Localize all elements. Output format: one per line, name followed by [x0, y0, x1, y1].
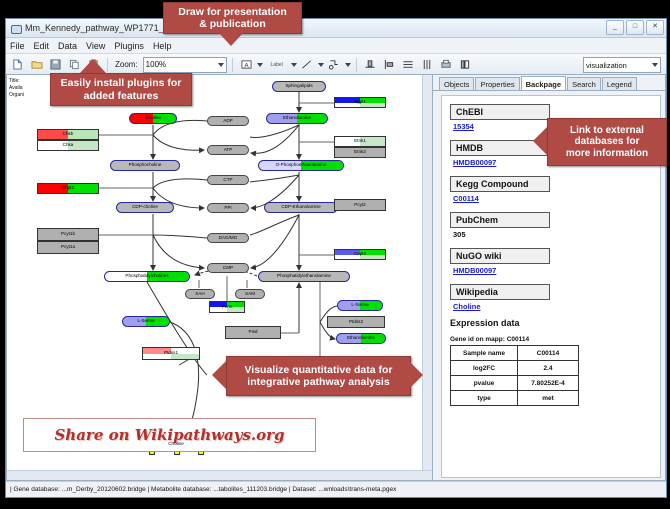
menu-bar: File Edit Data View Plugins Help [6, 38, 666, 54]
node-label: Choline [168, 442, 184, 447]
title-bar: Mm_Kennedy_pathway_WP1771_45176.gpml _ □… [6, 19, 666, 38]
kegg-link[interactable]: C00114 [453, 194, 654, 203]
app-icon [10, 23, 21, 34]
node-ethanolamine[interactable]: Ethanolamine [266, 113, 328, 124]
row-value: C00114 [518, 346, 579, 361]
screenshot-root: Mm_Kennedy_pathway_WP1771_45176.gpml _ □… [0, 0, 670, 509]
draw-callout-text: Draw for presentation & publication [178, 6, 287, 30]
pubchem-value: 305 [453, 230, 654, 239]
visualization-value: visualization [586, 61, 627, 70]
gene-ptdss2[interactable]: Ptdss2 [327, 316, 385, 328]
node-ppi[interactable]: PPi [207, 203, 249, 213]
node-label: Ethanolamine [283, 116, 311, 121]
tab-properties[interactable]: Properties [475, 77, 519, 90]
gene-pisd[interactable]: Pisd [225, 326, 281, 339]
node-l-serine-right[interactable]: L-Serine [337, 300, 383, 311]
node-phosphocholine[interactable]: Phosphocholine [110, 160, 180, 171]
gene-pemt[interactable]: Pemt [209, 301, 245, 313]
pubchem-header: PubChem [450, 212, 550, 228]
row-key: type [451, 391, 518, 406]
toolbar-separator [232, 58, 233, 72]
stack-icon[interactable] [457, 56, 474, 73]
menu-item-help[interactable]: Help [153, 41, 172, 51]
chevron-down-icon[interactable] [257, 63, 263, 67]
kegg-header: Kegg Compound [450, 176, 550, 192]
expression-table: Sample name C00114 log2FC 2.4 pvalue 7.8… [450, 345, 579, 406]
menu-item-edit[interactable]: Edit [34, 41, 50, 51]
link-callout-arrow-icon [533, 127, 547, 155]
node-label: DAG/MG [219, 236, 238, 241]
distribute-horizontal-icon[interactable] [419, 56, 436, 73]
gene-label: Ptdss2 [349, 320, 363, 325]
chevron-down-icon [652, 63, 658, 67]
tab-backpage[interactable]: Backpage [521, 76, 566, 90]
gene-pcyt2[interactable]: Pcyt2 [334, 199, 386, 211]
row-key: pvalue [451, 376, 518, 391]
gene-label: Chkb [63, 132, 74, 137]
canvas-scrollbar-vertical[interactable] [422, 75, 432, 471]
open-folder-icon[interactable] [28, 56, 45, 73]
tab-search[interactable]: Search [567, 77, 601, 90]
node-phosphatidylethanolamine[interactable]: Phosphatidylethanolamine [258, 271, 350, 282]
gene-chkb[interactable]: Chkb [37, 129, 99, 140]
visualize-callout-arrow-right-icon [409, 361, 423, 389]
plugins-callout-arrow-icon [80, 59, 106, 73]
zoom-value: 100% [146, 60, 166, 69]
maximize-button[interactable]: □ [626, 20, 644, 35]
visualize-callout: Visualize quantitative data for integrat… [226, 356, 411, 396]
menu-item-file[interactable]: File [10, 41, 25, 51]
chevron-down-icon [218, 63, 224, 67]
node-label: O-Phosphoethanolamine [276, 163, 327, 168]
gene-label: Pemt [222, 305, 233, 310]
gene-label: Sgpl1 [354, 100, 366, 105]
print-icon[interactable] [438, 56, 455, 73]
node-dag-mg[interactable]: DAG/MG [207, 233, 249, 243]
node-cmp[interactable]: CMP [207, 263, 249, 273]
node-label: Phosphatidylcholines [125, 274, 168, 279]
chebi-header: ChEBI [450, 104, 550, 120]
gene-label: Pcyt2 [354, 203, 366, 208]
node-label: ADP [223, 119, 232, 124]
gene-label: Etnk2 [354, 150, 366, 155]
toolbar-separator [107, 58, 108, 72]
node-label: ATP [224, 148, 233, 153]
svg-text:A: A [244, 62, 249, 69]
tab-legend[interactable]: Legend [602, 77, 637, 90]
node-label: CMP [223, 266, 233, 271]
node-l-serine-left[interactable]: L-Serine [122, 316, 170, 327]
wikipedia-header: Wikipedia [450, 284, 550, 300]
draw-callout: Draw for presentation & publication [163, 2, 302, 34]
nugo-header: NuGO wiki [450, 248, 550, 264]
gene-label: Pcyt1b [61, 232, 75, 237]
node-sah[interactable]: SAH [185, 289, 215, 299]
sidebar-tabs: Objects Properties Backpage Search Legen… [433, 75, 665, 91]
gene-label: Cept1 [354, 252, 366, 257]
gene-chka[interactable]: Chka [37, 140, 99, 151]
gene-sgpl1[interactable]: Sgpl1 [334, 97, 386, 108]
text-label-icon[interactable]: A [238, 56, 255, 73]
node-label: Phosphocholine [129, 163, 162, 168]
plugins-callout: Easily install plugins for added feature… [50, 73, 192, 106]
node-cdp-ethanolamine[interactable]: CDP-Ethanolamine [264, 202, 338, 213]
node-label: PPi [224, 206, 231, 211]
node-atp[interactable]: ATP [207, 145, 249, 155]
gene-pcyt1b[interactable]: Pcyt1b [37, 228, 99, 241]
node-label: SAM [245, 292, 255, 297]
visualization-combo[interactable]: visualization [583, 57, 661, 73]
gene-ptdss1[interactable]: Ptdss1 [142, 347, 200, 360]
visualize-callout-text: Visualize quantitative data for integrat… [244, 364, 392, 388]
chevron-down-icon[interactable] [318, 63, 324, 67]
gene-etnk1[interactable]: Etnk1 [334, 136, 386, 147]
link-callout: Link to external databases for more info… [547, 118, 667, 166]
chevron-down-icon[interactable] [291, 63, 297, 67]
node-label: Phosphatidylethanolamine [277, 274, 331, 279]
node-ctp[interactable]: CTP [207, 175, 249, 185]
node-label: Choline [145, 116, 161, 121]
row-value: 7.80252E-4 [518, 376, 579, 391]
gene-label: Pisd [249, 330, 258, 335]
node-o-phosphoethanolamine[interactable]: O-Phosphoethanolamine [258, 160, 344, 171]
node-cdp-choline[interactable]: CDP-choline [116, 202, 174, 213]
gene-label: Ptdss1 [164, 351, 178, 356]
node-label: Sphingolipids [285, 84, 312, 89]
visualize-callout-arrow-left-icon [212, 361, 226, 389]
nugo-link[interactable]: HMDB00097 [453, 266, 654, 275]
expression-data-title: Expression data [450, 318, 654, 328]
row-key: Sample name [451, 346, 518, 361]
chevron-down-icon[interactable] [345, 63, 351, 67]
node-label: CDP-Ethanolamine [281, 205, 320, 210]
node-label: CTP [223, 178, 232, 183]
window-controls: _ □ ✕ [606, 20, 664, 35]
arrow-shape-icon[interactable] [326, 56, 343, 73]
status-text: | Gene database: ...m_Derby_20120602.bri… [10, 486, 396, 493]
row-value: met [518, 391, 579, 406]
save-icon[interactable] [47, 56, 64, 73]
node-label: L-Serine [137, 319, 154, 324]
draw-callout-arrow-icon [218, 32, 244, 46]
gene-chpt1[interactable]: Chpt1 [37, 183, 99, 194]
canvas-scrollbar-horizontal[interactable] [7, 470, 432, 480]
align-bottom-icon[interactable] [362, 56, 379, 73]
row-value: 2.4 [518, 361, 579, 376]
node-label: CDP-choline [132, 205, 158, 210]
node-phosphatidylcholines[interactable]: Phosphatidylcholines [104, 271, 190, 282]
tab-objects[interactable]: Objects [439, 77, 474, 90]
status-bar: | Gene database: ...m_Derby_20120602.bri… [6, 481, 666, 497]
table-row: pvalue 7.80252E-4 [451, 376, 579, 391]
node-sam[interactable]: SAM [235, 289, 265, 299]
menu-item-view[interactable]: View [86, 41, 105, 51]
distribute-vertical-icon[interactable] [400, 56, 417, 73]
plugins-callout-text: Easily install plugins for added feature… [61, 77, 182, 101]
row-key: log2FC [451, 361, 518, 376]
wikipedia-link[interactable]: Choline [453, 302, 654, 311]
gene-label: Chka [63, 143, 74, 148]
table-row: Sample name C00114 [451, 346, 579, 361]
align-left-icon[interactable] [381, 56, 398, 73]
table-row: type met [451, 391, 579, 406]
gene-pcyt1a[interactable]: Pcyt1a [37, 241, 99, 254]
label-icon[interactable]: Label [265, 56, 289, 73]
node-sphingolipids[interactable]: Sphingolipids [272, 81, 326, 92]
zoom-label: Zoom: [115, 60, 138, 69]
gene-id-line: Gene id on mapp: C00114 [450, 336, 654, 343]
table-row: log2FC 2.4 [451, 361, 579, 376]
menu-item-data[interactable]: Data [58, 41, 77, 51]
gene-label: Pcyt1a [61, 245, 75, 250]
gene-label: Chpt1 [62, 186, 74, 191]
close-button[interactable]: ✕ [646, 20, 664, 35]
node-adp[interactable]: ADP [207, 116, 249, 126]
node-label: SAH [195, 292, 204, 297]
gene-etnk2[interactable]: Etnk2 [334, 147, 386, 158]
menu-item-plugins[interactable]: Plugins [114, 41, 144, 51]
zoom-combo[interactable]: 100% [143, 57, 227, 73]
node-choline[interactable]: Choline [129, 113, 177, 124]
gene-label: Etnk1 [354, 139, 366, 144]
node-label: L-Serine [351, 303, 368, 308]
node-label: Ethanolamine [347, 336, 375, 341]
gene-cept1[interactable]: Cept1 [334, 249, 386, 260]
minimize-button[interactable]: _ [606, 20, 624, 35]
node-ethanolamine-right[interactable]: Ethanolamine [336, 333, 386, 344]
link-callout-text: Link to external databases for more info… [566, 125, 648, 160]
share-callout: Share on Wikipathways.org [23, 418, 316, 452]
line-icon[interactable] [299, 56, 316, 73]
toolbar-separator [356, 58, 357, 72]
new-file-icon[interactable] [9, 56, 26, 73]
